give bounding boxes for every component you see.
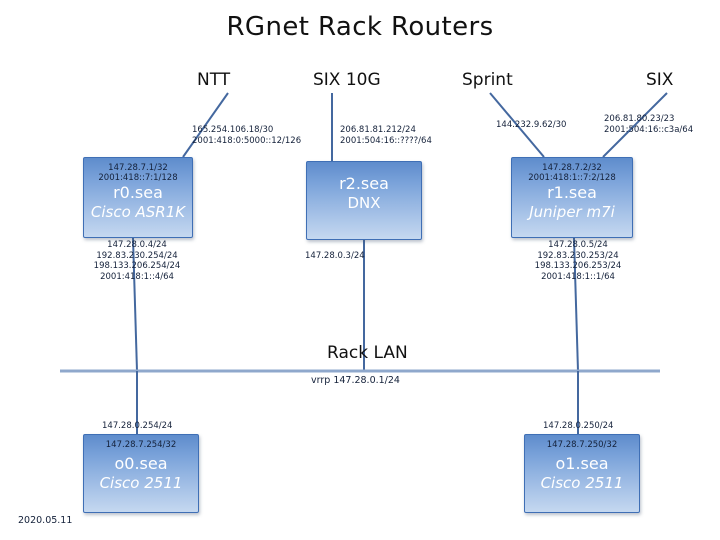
router-name-r1: r1.sea — [512, 183, 632, 203]
router-loopback-v6-r0: 2001:418::7:1/128 — [84, 173, 192, 183]
peer-label-six10g: SIX 10G — [313, 70, 381, 90]
lan-address-r1: 147.28.0.5/24 192.83.230.253/24 198.133.… — [514, 240, 642, 282]
rack-lan-label: Rack LAN — [327, 343, 408, 363]
router-loopback-v4-r1: 147.28.7.2/32 — [512, 163, 632, 173]
peer-label-ntt: NTT — [197, 70, 230, 90]
lan-address-r0: 147.28.0.4/24 192.83.230.254/24 198.133.… — [73, 240, 201, 282]
router-name-r0: r0.sea — [84, 183, 192, 203]
router-node-r1[interactable]: 147.28.7.2/32 2001:418:1::7:2/128 r1.sea… — [511, 157, 633, 238]
rack-lan-vrrp-address: vrrp 147.28.0.1/24 — [311, 375, 400, 386]
router-node-r0[interactable]: 147.28.7.1/32 2001:418::7:1/128 r0.sea C… — [83, 157, 193, 238]
console-loopback-o0: 147.28.7.254/32 — [84, 440, 198, 450]
router-model-r0: Cisco ASR1K — [84, 203, 192, 222]
router-loopback-v4-r0: 147.28.7.1/32 — [84, 163, 192, 173]
router-model-r2: DNX — [307, 194, 421, 213]
console-node-o0[interactable]: 147.28.7.254/32 o0.sea Cisco 2511 — [83, 434, 199, 513]
uplink-address-ntt: 165.254.106.18/30 2001:418:0:5000::12/12… — [192, 125, 301, 146]
uplink-address-six: 206.81.80.23/23 2001:504:16::c3a/64 — [604, 114, 693, 135]
uplink-address-sprint: 144.232.9.62/30 — [496, 120, 566, 131]
console-lan-address-o1: 147.28.0.250/24 — [543, 421, 613, 432]
console-model-o0: Cisco 2511 — [84, 474, 198, 493]
router-name-r2: r2.sea — [307, 174, 421, 194]
console-lan-address-o0: 147.28.0.254/24 — [102, 421, 172, 432]
router-loopback-v6-r1: 2001:418:1::7:2/128 — [512, 173, 632, 183]
peer-label-sprint: Sprint — [462, 70, 513, 90]
router-model-r1: Juniper m7i — [512, 203, 632, 222]
console-name-o1: o1.sea — [525, 454, 639, 474]
console-name-o0: o0.sea — [84, 454, 198, 474]
router-node-r2[interactable]: r2.sea DNX — [306, 161, 422, 240]
console-loopback-o1: 147.28.7.250/32 — [525, 440, 639, 450]
lan-address-r2: 147.28.0.3/24 — [305, 251, 365, 262]
page-title: RGnet Rack Routers — [0, 12, 720, 42]
uplink-address-six10g: 206.81.81.212/24 2001:504:16::????/64 — [340, 125, 432, 146]
date-stamp: 2020.05.11 — [18, 515, 72, 526]
console-model-o1: Cisco 2511 — [525, 474, 639, 493]
peer-label-six: SIX — [646, 70, 673, 90]
console-node-o1[interactable]: 147.28.7.250/32 o1.sea Cisco 2511 — [524, 434, 640, 513]
network-diagram-canvas: RGnet Rack Routers NTT SIX 10G Sprint SI… — [0, 0, 720, 540]
